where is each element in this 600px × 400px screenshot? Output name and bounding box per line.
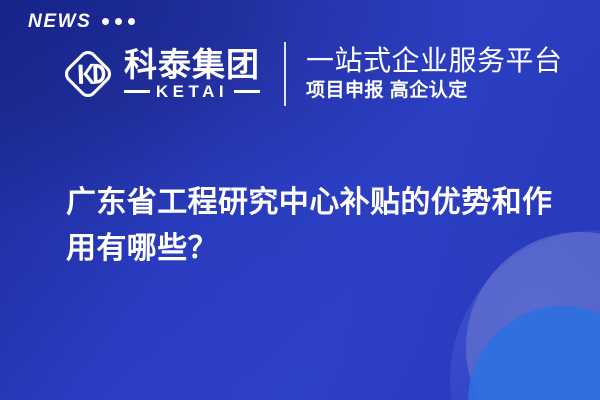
- brand-wordmark: 科泰集团 KETAI: [124, 48, 260, 101]
- brand-name-en: KETAI: [156, 83, 228, 100]
- brand-rule-right: [234, 90, 260, 93]
- news-banner: NEWS 科泰集团 KETAI: [0, 0, 600, 400]
- slogan-sub: 项目申报 高企认定: [306, 79, 563, 104]
- brand-name-cn: 科泰集团: [124, 48, 260, 83]
- brand-row: 科泰集团 KETAI 一站式企业服务平台 项目申报 高企认定: [60, 42, 563, 106]
- eyebrow-dots-icon: [102, 18, 135, 25]
- brand-rule-left: [124, 90, 150, 93]
- eyebrow-dot: [115, 18, 122, 25]
- page-title: 广东省工程研究中心补贴的优势和作用有哪些？: [66, 180, 564, 271]
- eyebrow-dot: [102, 18, 109, 25]
- eyebrow: NEWS: [28, 12, 135, 31]
- eyebrow-dot: [128, 18, 135, 25]
- brand-slogan-divider: [284, 42, 286, 106]
- slogan-block: 一站式企业服务平台 项目申报 高企认定: [306, 44, 563, 104]
- brand-name-en-row: KETAI: [124, 83, 260, 100]
- slogan-main: 一站式企业服务平台: [306, 44, 563, 77]
- eyebrow-label: NEWS: [28, 12, 91, 31]
- ketai-diamond-kd-logo-icon: [60, 46, 116, 102]
